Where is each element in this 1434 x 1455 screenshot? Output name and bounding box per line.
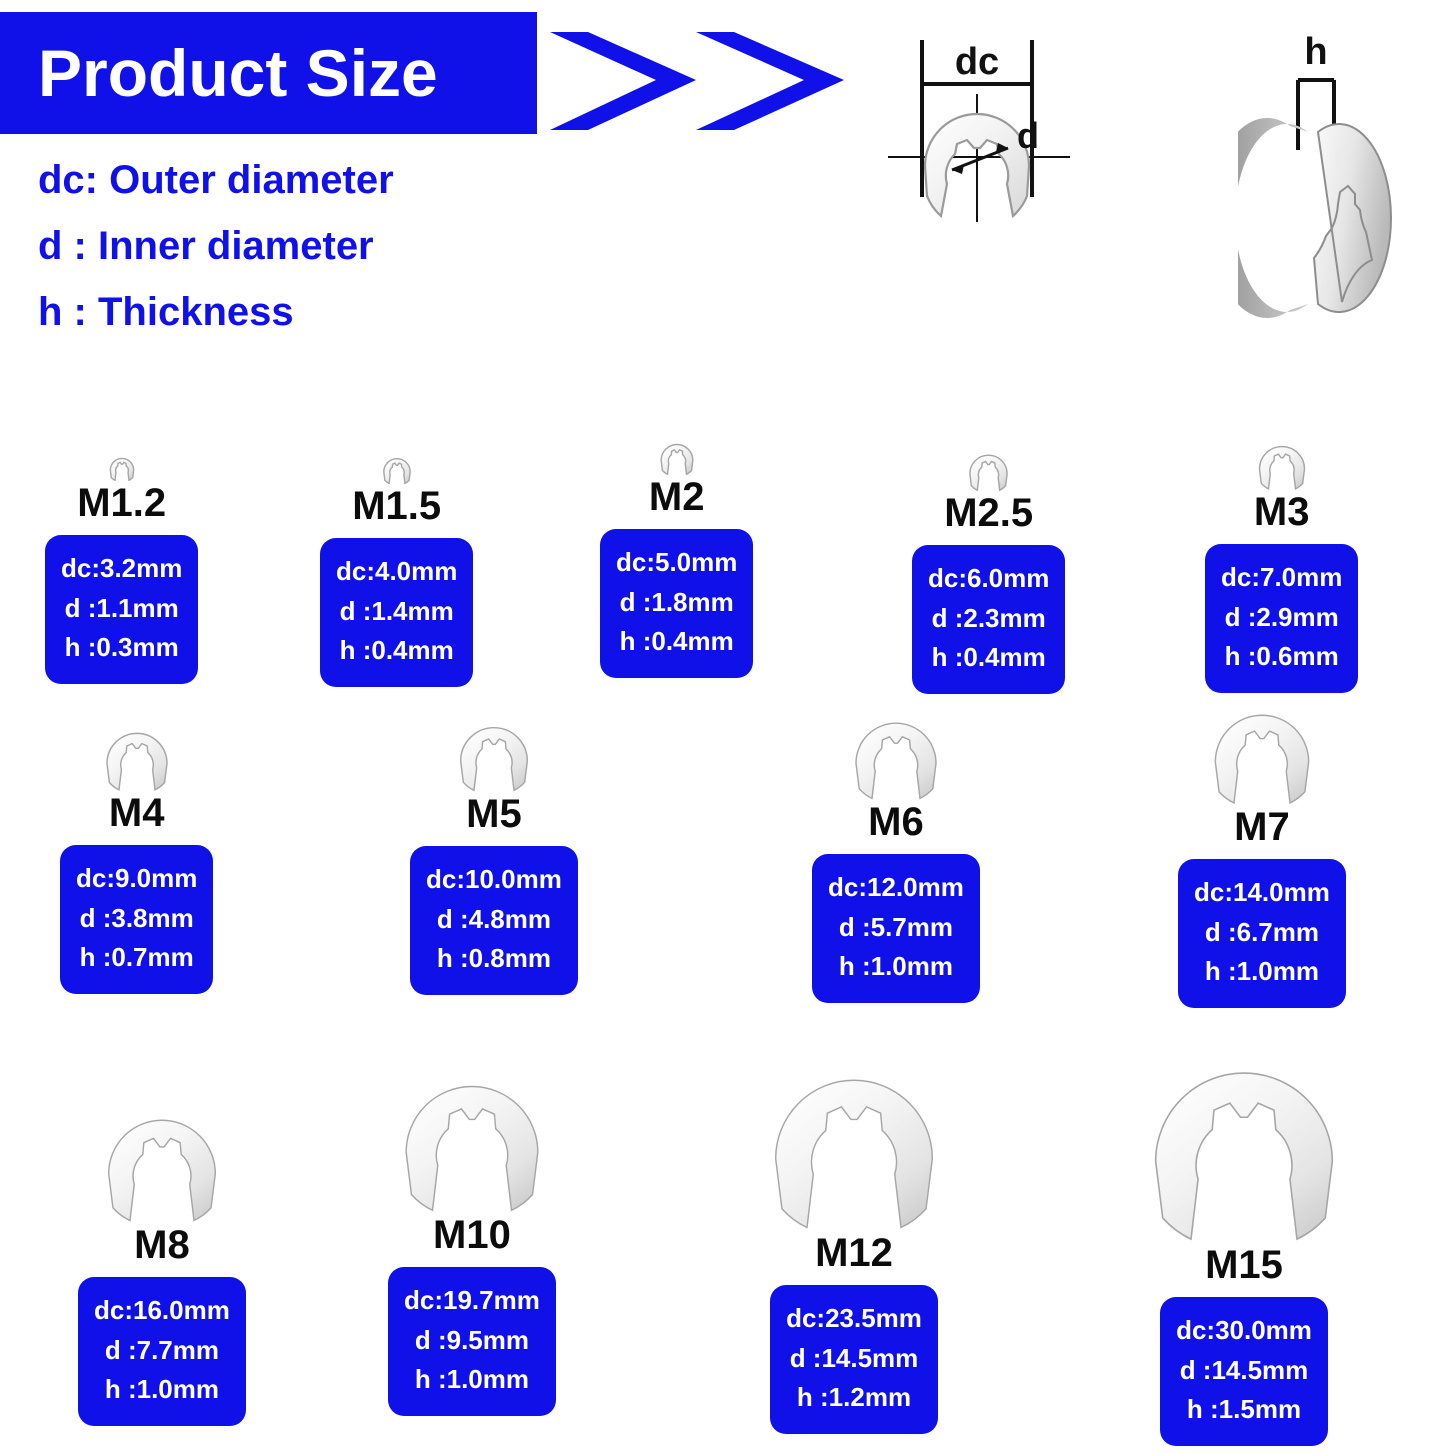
spec-h: h :0.4mm <box>928 638 1049 678</box>
e-clip-ring-icon <box>98 1105 226 1223</box>
spec-dc: dc:23.5mm <box>786 1299 922 1339</box>
spec-h: h :1.5mm <box>1176 1390 1312 1430</box>
spec-dc: dc:7.0mm <box>1221 558 1342 598</box>
spec-d: d :2.9mm <box>1221 598 1342 638</box>
d-label: d <box>1017 115 1039 156</box>
size-name-label: M7 <box>1178 807 1346 847</box>
e-clip-ring-icon <box>966 450 1011 491</box>
size-name-label: M2 <box>600 477 753 517</box>
size-name-label: M15 <box>1138 1245 1350 1285</box>
size-card-m6: M6dc:12.0mmd :5.7mmh :1.0mm <box>812 712 980 1003</box>
spec-dc: dc:12.0mm <box>828 868 964 908</box>
size-name-label: M1.2 <box>45 483 198 523</box>
e-clip-ring-m3 <box>1205 440 1358 490</box>
spec-d: d :6.7mm <box>1194 913 1330 953</box>
e-clip-ring-icon <box>1255 440 1309 490</box>
legend-item-h: h : Thickness <box>38 292 518 332</box>
product-size-banner: Product Size <box>0 12 537 134</box>
page-title: Product Size <box>0 40 438 106</box>
e-clip-ring-icon <box>1138 1048 1350 1243</box>
spec-h: h :1.0mm <box>828 947 964 987</box>
spec-box: dc:10.0mmd :4.8mmh :0.8mm <box>410 846 578 995</box>
spec-box: dc:6.0mmd :2.3mmh :0.4mm <box>912 545 1065 694</box>
e-clip-ring-icon <box>101 725 173 791</box>
e-clip-ring-m7 <box>1178 702 1346 805</box>
size-name-label: M12 <box>760 1233 948 1273</box>
spec-h: h :1.0mm <box>1194 952 1330 992</box>
spec-dc: dc:4.0mm <box>336 552 457 592</box>
spec-box: dc:16.0mmd :7.7mmh :1.0mm <box>78 1277 246 1426</box>
size-card-m1-5: M1.5dc:4.0mmd :1.4mmh :0.4mm <box>320 455 473 687</box>
size-card-m15: M15dc:30.0mmd :14.5mmh :1.5mm <box>1138 1048 1350 1446</box>
spec-box: dc:4.0mmd :1.4mmh :0.4mm <box>320 538 473 687</box>
spec-box: dc:23.5mmd :14.5mmh :1.2mm <box>770 1285 938 1434</box>
spec-dc: dc:3.2mm <box>61 549 182 589</box>
e-clip-ring-m8 <box>78 1105 246 1223</box>
spec-h: h :0.8mm <box>426 939 562 979</box>
size-card-m1-2: M1.2dc:3.2mmd :1.1mmh :0.3mm <box>45 455 198 684</box>
spec-d: d :1.8mm <box>616 583 737 623</box>
spec-h: h :0.6mm <box>1221 637 1342 677</box>
spec-dc: dc:19.7mm <box>404 1281 540 1321</box>
e-clip-ring-m15 <box>1138 1048 1350 1243</box>
spec-box: dc:30.0mmd :14.5mmh :1.5mm <box>1160 1297 1328 1446</box>
e-clip-ring-icon <box>1206 702 1318 805</box>
e-clip-ring-icon <box>393 1068 551 1213</box>
e-clip-ring-m1-2 <box>45 455 198 481</box>
spec-box: dc:19.7mmd :9.5mmh :1.0mm <box>388 1267 556 1416</box>
e-clip-side-view-diagram: h <box>1238 22 1434 352</box>
e-clip-ring-m10 <box>388 1068 556 1213</box>
e-clip-ring-m1-5 <box>320 455 473 484</box>
legend: dc: Outer diameter d : Inner diameter h … <box>38 160 518 358</box>
e-clip-ring-icon <box>848 712 944 800</box>
spec-h: h :0.4mm <box>336 631 457 671</box>
spec-dc: dc:16.0mm <box>94 1291 230 1331</box>
spec-box: dc:3.2mmd :1.1mmh :0.3mm <box>45 535 198 684</box>
spec-d: d :7.7mm <box>94 1331 230 1371</box>
e-clip-ring-icon <box>381 455 413 484</box>
size-name-label: M2.5 <box>912 493 1065 533</box>
e-clip-ring-m5 <box>410 718 578 792</box>
size-card-m2: M2dc:5.0mmd :1.8mmh :0.4mm <box>600 440 753 678</box>
e-clip-ring-icon <box>454 718 534 792</box>
spec-dc: dc:10.0mm <box>426 860 562 900</box>
spec-box: dc:9.0mmd :3.8mmh :0.7mm <box>60 845 213 994</box>
spec-h: h :0.7mm <box>76 938 197 978</box>
size-name-label: M8 <box>78 1225 246 1265</box>
size-card-m3: M3dc:7.0mmd :2.9mmh :0.6mm <box>1205 440 1358 693</box>
spec-d: d :5.7mm <box>828 908 964 948</box>
size-name-label: M5 <box>410 794 578 834</box>
size-name-label: M10 <box>388 1215 556 1255</box>
spec-d: d :14.5mm <box>1176 1351 1312 1391</box>
e-clip-ring-m12 <box>760 1058 948 1231</box>
spec-d: d :1.4mm <box>336 592 457 632</box>
size-card-m12: M12dc:23.5mmd :14.5mmh :1.2mm <box>760 1058 948 1434</box>
spec-d: d :14.5mm <box>786 1339 922 1379</box>
size-name-label: M1.5 <box>320 486 473 526</box>
size-name-label: M6 <box>812 802 980 842</box>
spec-box: dc:12.0mmd :5.7mmh :1.0mm <box>812 854 980 1003</box>
e-clip-ring-m2 <box>600 440 753 475</box>
size-card-m10: M10dc:19.7mmd :9.5mmh :1.0mm <box>388 1068 556 1416</box>
spec-d: d :3.8mm <box>76 899 197 939</box>
e-clip-front-view-diagram: dc d <box>880 22 1220 332</box>
size-card-m7: M7dc:14.0mmd :6.7mmh :1.0mm <box>1178 702 1346 1008</box>
spec-dc: dc:5.0mm <box>616 543 737 583</box>
spec-dc: dc:30.0mm <box>1176 1311 1312 1351</box>
e-clip-ring-m6 <box>812 712 980 800</box>
size-card-m5: M5dc:10.0mmd :4.8mmh :0.8mm <box>410 718 578 995</box>
spec-box: dc:7.0mmd :2.9mmh :0.6mm <box>1205 544 1358 693</box>
spec-box: dc:5.0mmd :1.8mmh :0.4mm <box>600 529 753 678</box>
legend-item-d: d : Inner diameter <box>38 226 518 266</box>
spec-h: h :1.0mm <box>404 1360 540 1400</box>
spec-box: dc:14.0mmd :6.7mmh :1.0mm <box>1178 859 1346 1008</box>
spec-dc: dc:6.0mm <box>928 559 1049 599</box>
spec-d: d :2.3mm <box>928 599 1049 639</box>
size-card-m2-5: M2.5dc:6.0mmd :2.3mmh :0.4mm <box>912 450 1065 694</box>
spec-h: h :1.2mm <box>786 1378 922 1418</box>
dc-label: dc <box>955 41 999 83</box>
legend-item-dc: dc: Outer diameter <box>38 160 518 200</box>
size-card-m4: M4dc:9.0mmd :3.8mmh :0.7mm <box>60 725 213 994</box>
h-label: h <box>1304 31 1327 73</box>
spec-dc: dc:9.0mm <box>76 859 197 899</box>
size-name-label: M3 <box>1205 492 1358 532</box>
spec-d: d :1.1mm <box>61 589 182 629</box>
e-clip-ring-icon <box>658 440 696 475</box>
e-clip-ring-icon <box>760 1058 948 1231</box>
spec-h: h :1.0mm <box>94 1370 230 1410</box>
spec-h: h :0.4mm <box>616 622 737 662</box>
e-clip-ring-icon <box>108 455 136 481</box>
e-clip-ring-m4 <box>60 725 213 791</box>
spec-d: d :9.5mm <box>404 1321 540 1361</box>
double-chevron-right-icon <box>548 30 848 134</box>
spec-dc: dc:14.0mm <box>1194 873 1330 913</box>
size-card-m8: M8dc:16.0mmd :7.7mmh :1.0mm <box>78 1105 246 1426</box>
spec-d: d :4.8mm <box>426 900 562 940</box>
e-clip-ring-m2-5 <box>912 450 1065 491</box>
spec-h: h :0.3mm <box>61 628 182 668</box>
size-name-label: M4 <box>60 793 213 833</box>
